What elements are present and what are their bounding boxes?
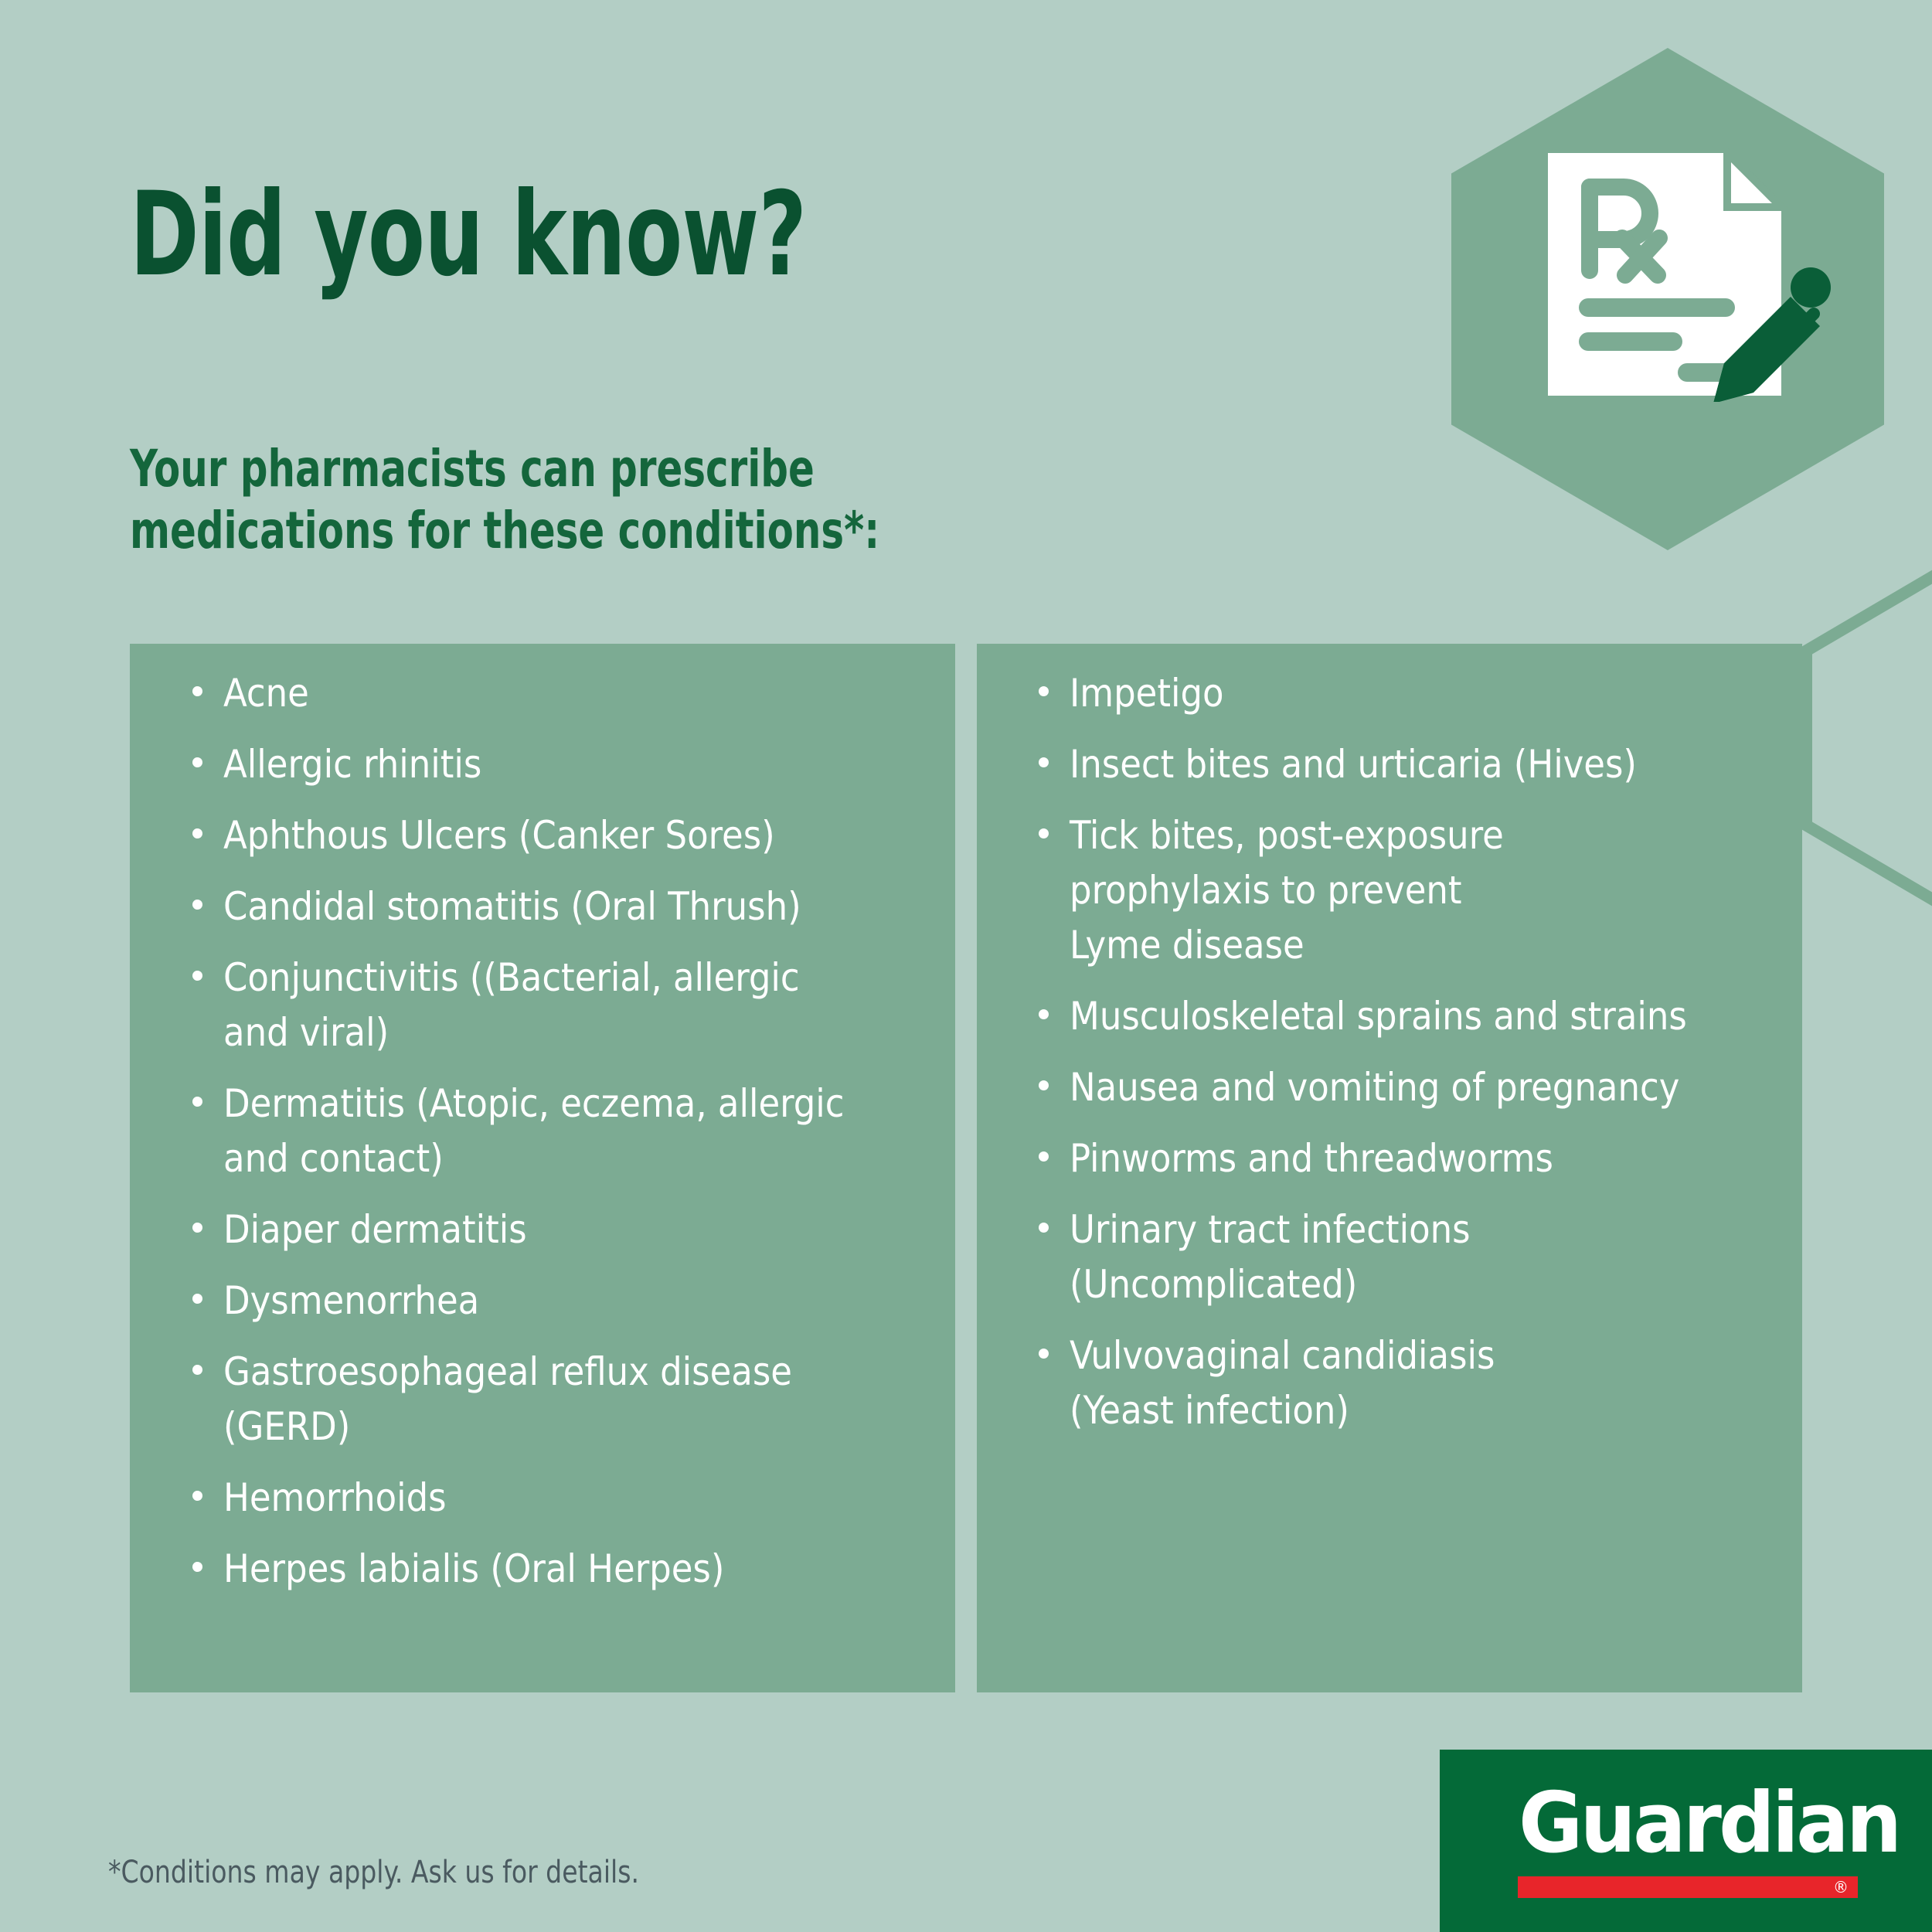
registered-trademark-icon: ®	[1833, 1878, 1849, 1896]
list-item: Conjunctivitis ((Bacterial, allergic and…	[189, 951, 931, 1060]
list-item: Insect bites and urticaria (Hives)	[1036, 737, 1824, 792]
guardian-wordmark: Guardian	[1519, 1782, 1852, 1866]
prescription-document-pen-icon	[1542, 147, 1851, 402]
list-item: Vulvovaginal candidiasis (Yeast infectio…	[1036, 1328, 1824, 1438]
guardian-logo-red-bar	[1518, 1876, 1858, 1898]
hexagon-outline-inner-shape	[1812, 570, 1932, 906]
page-title: Did you know?	[130, 177, 806, 293]
list-item: Gastroesophageal reflux disease (GERD)	[189, 1345, 931, 1454]
list-item: Dermatitis (Atopic, eczema, allergic and…	[189, 1077, 931, 1186]
list-item: Candidal stomatitis (Oral Thrush)	[189, 879, 931, 934]
conditions-list-left: Acne Allergic rhinitis Aphthous Ulcers (…	[189, 666, 931, 1613]
list-item: Musculoskeletal sprains and strains	[1036, 989, 1824, 1044]
infographic-canvas: Did you know? Your pharmacists can presc…	[0, 0, 1932, 1932]
list-item: Hemorrhoids	[189, 1471, 931, 1526]
list-item: Aphthous Ulcers (Canker Sores)	[189, 808, 931, 863]
list-item: Allergic rhinitis	[189, 737, 931, 792]
list-item: Dysmenorrhea	[189, 1274, 931, 1328]
list-item: Pinworms and threadworms	[1036, 1131, 1824, 1186]
page-subtitle: Your pharmacists can prescribe medicatio…	[130, 438, 879, 563]
list-item: Nausea and vomiting of pregnancy	[1036, 1060, 1824, 1115]
list-item: Herpes labialis (Oral Herpes)	[189, 1542, 931, 1597]
conditions-list-right: Impetigo Insect bites and urticaria (Hiv…	[1036, 666, 1824, 1454]
list-item: Acne	[189, 666, 931, 721]
list-item: Urinary tract infections (Uncomplicated)	[1036, 1202, 1824, 1312]
footnote-text: *Conditions may apply. Ask us for detail…	[108, 1855, 639, 1890]
list-item: Diaper dermatitis	[189, 1202, 931, 1257]
list-item: Impetigo	[1036, 666, 1824, 721]
list-item: Tick bites, post-exposure prophylaxis to…	[1036, 808, 1824, 973]
